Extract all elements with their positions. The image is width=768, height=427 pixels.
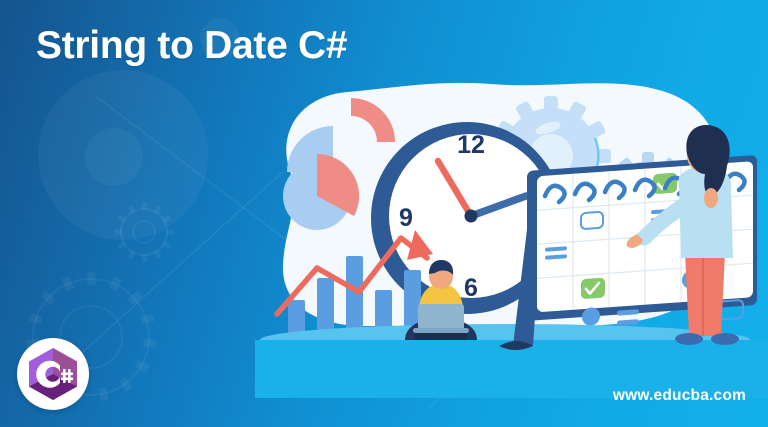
woman-neck (704, 188, 718, 208)
bar-3 (346, 256, 363, 334)
woman-shoe-left (675, 333, 703, 345)
page-title: String to Date C# (36, 25, 347, 68)
clock-center-pin (465, 210, 478, 223)
illustration-date-time-scene: 12 3 6 9 (255, 78, 768, 398)
laptop-base (413, 328, 469, 333)
clock-numeral-9: 9 (399, 204, 413, 232)
csharp-logo[interactable] (17, 338, 89, 410)
clock-numeral-6: 6 (464, 274, 478, 302)
woman-shoe-right (711, 333, 739, 345)
bg-circle-small (85, 128, 143, 186)
banner: String to Date C# (0, 0, 768, 427)
woman-pants (685, 253, 725, 336)
bg-gear-icon-1 (120, 208, 168, 256)
bar-2 (317, 278, 334, 334)
bar-1 (288, 300, 305, 334)
website-url: www.educba.com (613, 387, 746, 405)
bg-circle-large (38, 70, 208, 240)
laptop-screen (418, 304, 464, 330)
bg-diagonal-line-2 (60, 171, 284, 372)
clock-numeral-12: 12 (457, 131, 485, 159)
